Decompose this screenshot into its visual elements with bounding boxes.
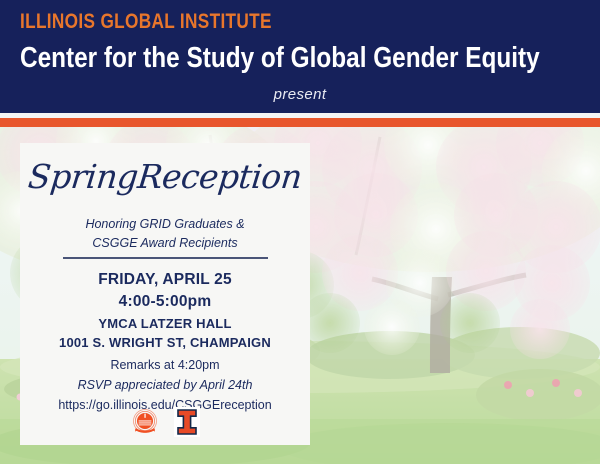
rsvp-note: RSVP appreciated by April 24th <box>20 375 310 395</box>
event-details: FRIDAY, APRIL 25 4:00-5:00pm YMCA LATZER… <box>20 269 310 353</box>
remarks-note: Remarks at 4:20pm <box>20 355 310 375</box>
invitation-card: SpringReception Honoring GRID Graduates … <box>20 143 310 445</box>
event-flyer: ILLINOIS GLOBAL INSTITUTE Center for the… <box>0 0 600 464</box>
event-title: SpringReception <box>18 159 312 195</box>
subtitle-line-2: CSGGE Award Recipients <box>20 234 310 253</box>
organization-title: ILLINOIS GLOBAL INSTITUTE <box>20 11 272 32</box>
event-subtitle: Honoring GRID Graduates & CSGGE Award Re… <box>20 215 310 254</box>
orange-divider-rule <box>0 118 600 127</box>
center-title: Center for the Study of Global Gender Eq… <box>20 43 540 75</box>
logo-row <box>20 407 310 437</box>
card-divider <box>63 257 268 259</box>
present-label: present <box>0 86 600 103</box>
university-seal-logo <box>130 407 160 437</box>
subtitle-line-1: Honoring GRID Graduates & <box>20 215 310 234</box>
header-band: ILLINOIS GLOBAL INSTITUTE Center for the… <box>0 0 600 113</box>
event-notes: Remarks at 4:20pm RSVP appreciated by Ap… <box>20 355 310 415</box>
event-time: 4:00-5:00pm <box>20 291 310 313</box>
event-date: FRIDAY, APRIL 25 <box>20 269 310 291</box>
event-address: 1001 S. WRIGHT ST, CHAMPAIGN <box>20 333 310 353</box>
block-i-logo <box>174 407 200 437</box>
event-venue: YMCA LATZER HALL <box>20 314 310 334</box>
